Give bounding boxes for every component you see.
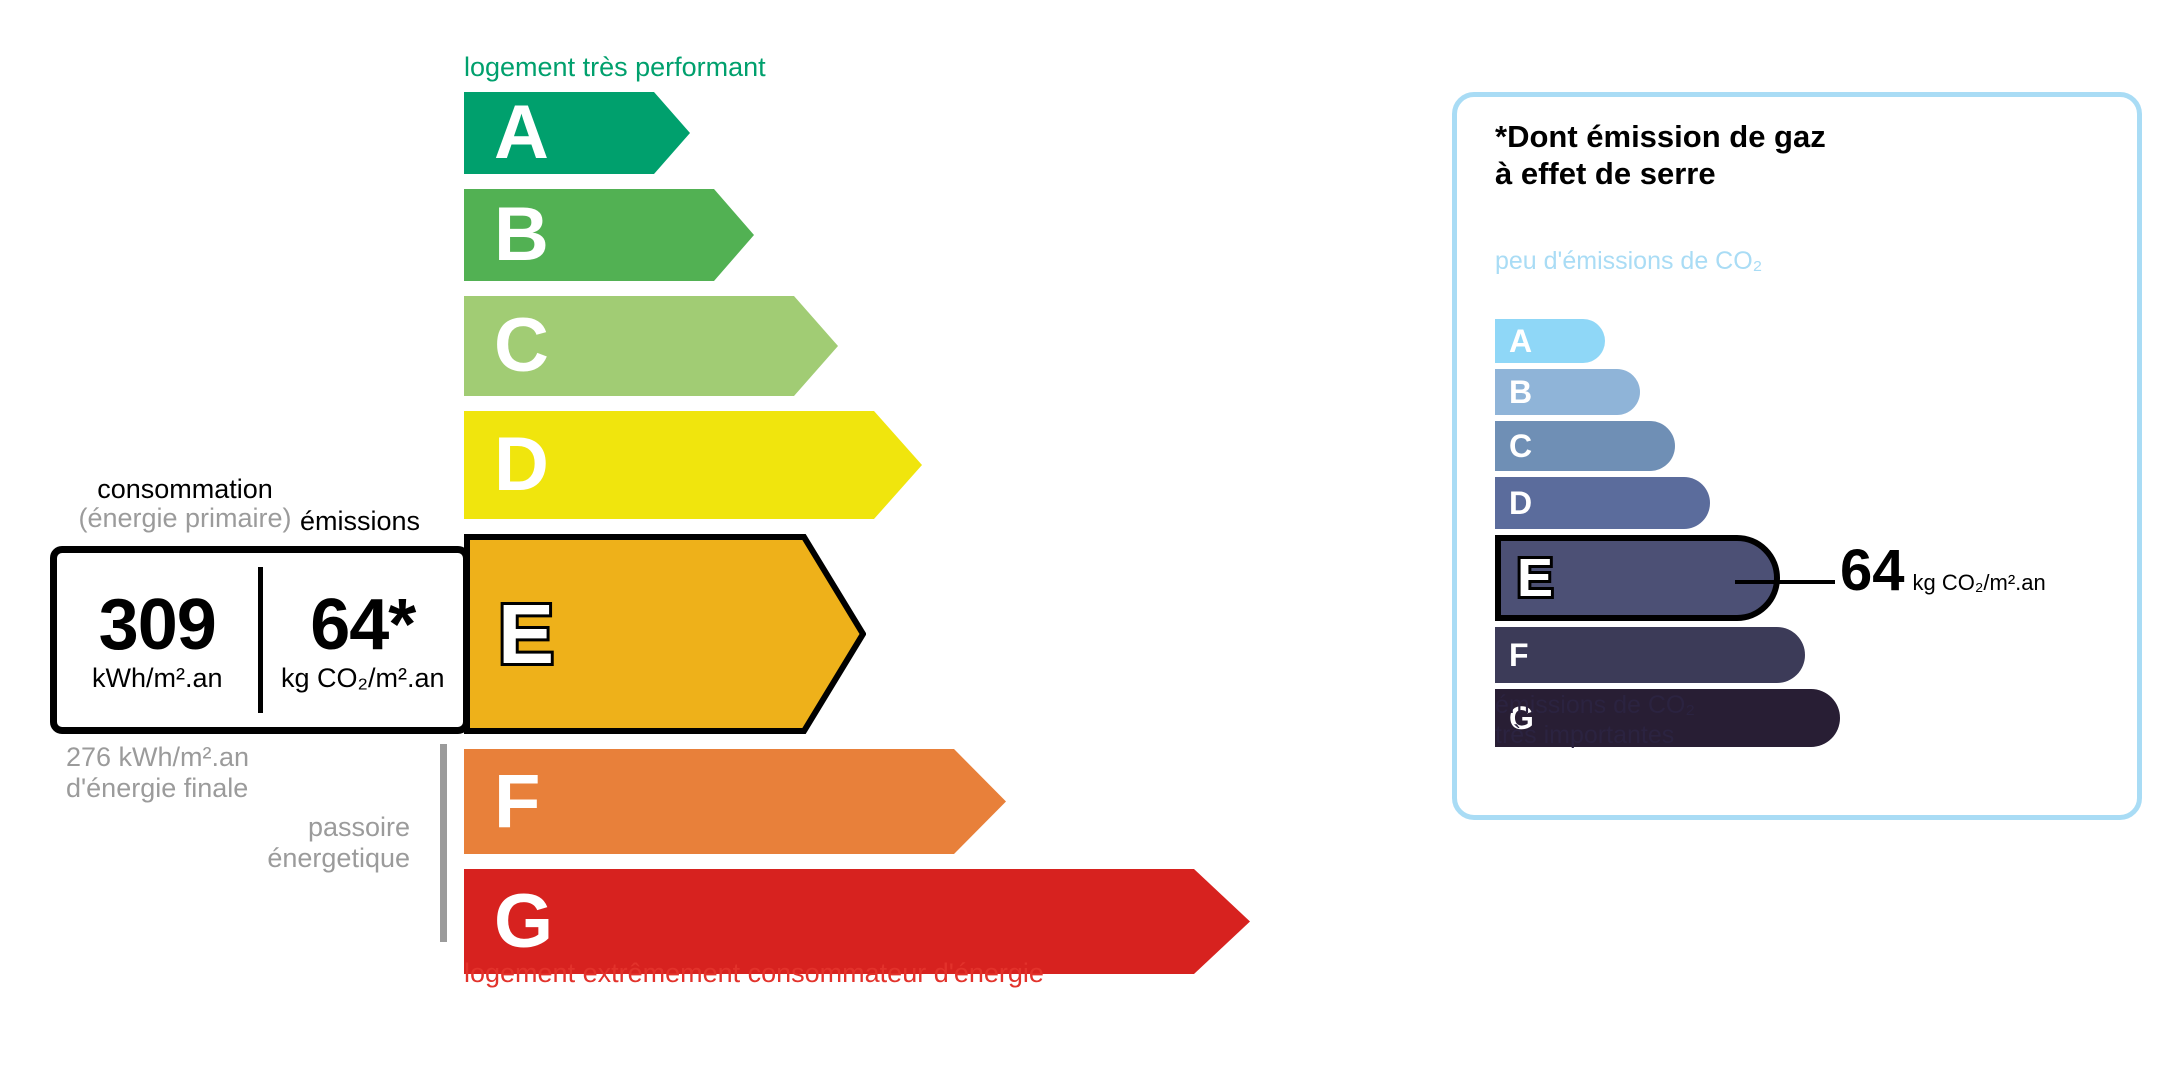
ghg-callout-leader-line — [1735, 580, 1835, 584]
ghg-bar-fill-f: F — [1495, 627, 1805, 683]
emissions-header: émissions — [300, 506, 420, 537]
energy-band-shape-f — [464, 749, 1006, 854]
ghg-bar-fill-b: B — [1495, 369, 1640, 415]
ghg-bar-letter-a: A — [1509, 325, 1532, 357]
energy-band-d: D — [464, 411, 922, 519]
passoire-bracket — [440, 744, 447, 942]
consumption-unit: kWh/m².an — [92, 663, 223, 694]
ghg-title-line-1: *Dont émission de gaz — [1495, 119, 1826, 156]
ghg-bar-a: A — [1495, 319, 1605, 363]
ghg-bar-fill-d: D — [1495, 477, 1710, 529]
consumption-value-cell: 309 kWh/m².an — [57, 553, 258, 727]
passoire-line-2: énergetique — [200, 843, 410, 874]
ghg-bar-f: F — [1495, 627, 1805, 683]
final-energy-value: 276 kWh/m².an — [66, 742, 249, 773]
consumption-sublabel: (énergie primaire) — [70, 504, 300, 533]
ghg-bottom-line-1: émissions de CO₂ — [1495, 691, 1695, 721]
final-energy-note: 276 kWh/m².an d'énergie finale — [66, 742, 249, 804]
energy-band-c: C — [464, 296, 838, 396]
bottom-caption-very-consuming: logement extrêmement consommateur d'éner… — [464, 958, 1044, 989]
ghg-title-line-2: à effet de serre — [1495, 156, 1826, 193]
consumption-label: consommation — [97, 474, 273, 504]
ghg-bottom-caption: émissions de CO₂ très importantes — [1495, 691, 1695, 750]
consumption-value: 309 — [99, 590, 216, 661]
emissions-value: 64* — [310, 590, 415, 661]
emissions-unit: kg CO₂/m².an — [281, 663, 445, 694]
ghg-bar-letter-e: E — [1517, 551, 1553, 605]
ghg-bottom-line-2: très importantes — [1495, 721, 1695, 751]
passoire-energetique-label: passoire énergetique — [200, 812, 410, 874]
energy-band-b: B — [464, 189, 754, 281]
ghg-bar-letter-d: D — [1509, 487, 1532, 519]
ghg-bar-fill-e: E — [1495, 535, 1780, 621]
final-energy-label: d'énergie finale — [66, 773, 249, 804]
ghg-bar-letter-c: C — [1509, 430, 1532, 462]
energy-band-letter-d: D — [494, 427, 549, 503]
ghg-callout-value: 64 — [1840, 542, 1905, 600]
ghg-bar-b: B — [1495, 369, 1640, 415]
ghg-bar-fill-c: C — [1495, 421, 1675, 471]
ghg-callout-unit: kg CO₂/m².an — [1913, 570, 2046, 596]
energy-band-e: E — [464, 534, 866, 734]
passoire-line-1: passoire — [200, 812, 410, 843]
emissions-value-cell: 64* kg CO₂/m².an — [263, 553, 464, 727]
ghg-bar-fill-a: A — [1495, 319, 1605, 363]
ghg-top-caption: peu d'émissions de CO₂ — [1495, 247, 1762, 276]
ghg-emissions-panel: *Dont émission de gaz à effet de serre p… — [1452, 92, 2142, 820]
ghg-bar-e: E — [1495, 535, 1780, 621]
value-summary-box: 309 kWh/m².an 64* kg CO₂/m².an — [50, 546, 470, 734]
energy-band-f: F — [464, 749, 1006, 854]
energy-band-a: A — [464, 92, 690, 174]
ghg-bar-letter-b: B — [1509, 376, 1532, 408]
energy-band-letter-g: G — [494, 884, 553, 960]
ghg-bar-letter-f: F — [1509, 639, 1529, 671]
energy-band-letter-a: A — [494, 95, 549, 171]
ghg-bar-d: D — [1495, 477, 1710, 529]
top-caption-very-efficient: logement très performant — [464, 52, 766, 83]
energy-band-letter-b: B — [494, 197, 549, 273]
energy-band-letter-e: E — [498, 592, 554, 676]
energy-band-letter-c: C — [494, 308, 549, 384]
ghg-callout: 64 kg CO₂/m².an — [1840, 542, 2046, 600]
consumption-header: consommation (énergie primaire) — [70, 475, 300, 533]
ghg-bar-c: C — [1495, 421, 1675, 471]
energy-performance-label: logement très performant ABCDEFG logemen… — [0, 0, 1400, 1079]
energy-band-letter-f: F — [494, 764, 540, 840]
ghg-panel-title: *Dont émission de gaz à effet de serre — [1495, 119, 1826, 192]
